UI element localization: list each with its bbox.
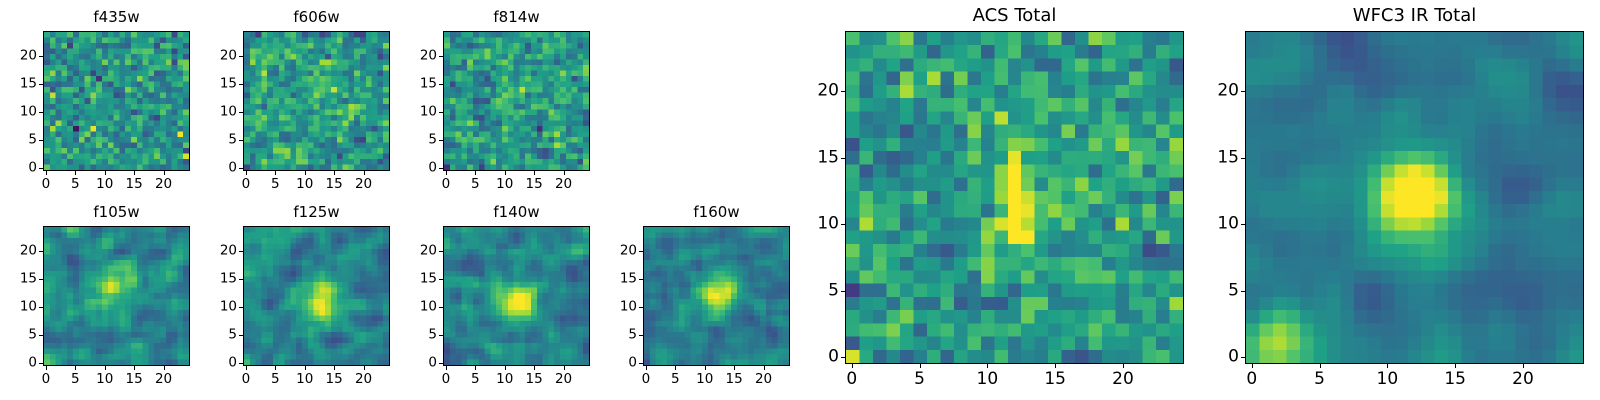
y-tick-label: 0 — [799, 349, 839, 366]
y-tick-label: 20 — [1199, 82, 1239, 99]
x-tick-label: 10 — [1377, 371, 1399, 388]
x-tick-label: 20 — [355, 373, 372, 387]
y-tick-mark — [239, 307, 243, 308]
x-tick-mark — [134, 171, 135, 175]
x-tick-mark — [46, 171, 47, 175]
y-tick-label: 5 — [5, 133, 37, 147]
y-tick-mark — [841, 158, 845, 159]
x-tick-mark — [364, 171, 365, 175]
panel-title-f105w: f105w — [43, 205, 190, 220]
x-tick-label: 15 — [326, 178, 343, 192]
x-tick-label: 20 — [1112, 371, 1134, 388]
x-tick-mark — [305, 171, 306, 175]
panel-f814w: f814w0510152005101520 — [443, 31, 590, 171]
x-tick-mark — [1055, 364, 1056, 368]
y-tick-mark — [439, 335, 443, 336]
y-tick-mark — [239, 251, 243, 252]
panel-title-f814w: f814w — [443, 10, 590, 25]
y-tick-mark — [439, 168, 443, 169]
panel-f160w: f160w0510152005101520 — [643, 226, 790, 366]
y-tick-mark — [1241, 291, 1245, 292]
x-tick-mark — [1387, 364, 1388, 368]
panel-title-f160w: f160w — [643, 205, 790, 220]
x-tick-mark — [987, 364, 988, 368]
y-tick-label: 5 — [205, 133, 237, 147]
x-tick-label: 15 — [1044, 371, 1066, 388]
y-tick-mark — [1241, 224, 1245, 225]
x-tick-mark — [1320, 364, 1321, 368]
y-tick-label: 10 — [205, 105, 237, 119]
x-tick-label: 5 — [471, 178, 480, 192]
y-tick-label: 5 — [1199, 282, 1239, 299]
x-tick-mark — [46, 366, 47, 370]
panel-wfc3-ir-total: WFC3 IR Total0510152005101520 — [1245, 31, 1584, 364]
x-tick-label: 5 — [1314, 371, 1325, 388]
y-tick-label: 20 — [605, 244, 637, 258]
x-tick-label: 0 — [442, 178, 451, 192]
heatmap-canvas-f160w — [644, 227, 789, 365]
x-tick-mark — [646, 366, 647, 370]
x-tick-label: 10 — [977, 371, 999, 388]
x-tick-label: 5 — [471, 373, 480, 387]
heatmap-canvas-f814w — [444, 32, 589, 170]
y-tick-mark — [239, 56, 243, 57]
x-tick-mark — [75, 366, 76, 370]
x-tick-label: 15 — [1444, 371, 1466, 388]
x-tick-mark — [134, 366, 135, 370]
heatmap-image-f105w — [43, 226, 190, 366]
x-tick-mark — [75, 171, 76, 175]
x-tick-label: 15 — [126, 373, 143, 387]
x-tick-label: 0 — [1246, 371, 1257, 388]
x-tick-label: 20 — [555, 178, 572, 192]
y-tick-label: 5 — [405, 328, 437, 342]
x-tick-mark — [920, 364, 921, 368]
x-tick-label: 10 — [696, 373, 713, 387]
x-tick-mark — [534, 171, 535, 175]
x-tick-label: 10 — [296, 178, 313, 192]
y-tick-mark — [239, 84, 243, 85]
y-tick-mark — [439, 307, 443, 308]
x-tick-mark — [164, 366, 165, 370]
heatmap-canvas-f606w — [244, 32, 389, 170]
y-tick-label: 15 — [5, 77, 37, 91]
x-tick-label: 5 — [914, 371, 925, 388]
heatmap-image-f140w — [443, 226, 590, 366]
heatmap-image-f435w — [43, 31, 190, 171]
y-tick-label: 10 — [405, 300, 437, 314]
x-tick-mark — [334, 171, 335, 175]
x-tick-mark — [246, 366, 247, 370]
y-tick-label: 5 — [799, 282, 839, 299]
heatmap-image-acs-total — [845, 31, 1184, 364]
x-tick-label: 20 — [1512, 371, 1534, 388]
y-tick-mark — [439, 279, 443, 280]
y-tick-mark — [1241, 158, 1245, 159]
y-tick-mark — [639, 251, 643, 252]
y-tick-label: 5 — [605, 328, 637, 342]
y-tick-label: 5 — [405, 133, 437, 147]
x-tick-mark — [446, 366, 447, 370]
y-tick-label: 0 — [205, 161, 237, 175]
x-tick-label: 20 — [755, 373, 772, 387]
x-tick-label: 0 — [642, 373, 651, 387]
x-tick-mark — [275, 171, 276, 175]
x-tick-label: 10 — [296, 373, 313, 387]
y-tick-label: 15 — [405, 272, 437, 286]
y-tick-mark — [639, 307, 643, 308]
heatmap-image-wfc3-ir-total — [1245, 31, 1584, 364]
x-tick-mark — [305, 366, 306, 370]
y-tick-mark — [39, 363, 43, 364]
x-tick-mark — [246, 171, 247, 175]
x-tick-mark — [164, 171, 165, 175]
heatmap-canvas-f125w — [244, 227, 389, 365]
x-tick-label: 0 — [42, 373, 51, 387]
x-tick-label: 15 — [326, 373, 343, 387]
panel-title-f140w: f140w — [443, 205, 590, 220]
y-tick-mark — [1241, 357, 1245, 358]
heatmap-image-f606w — [243, 31, 390, 171]
y-tick-mark — [639, 363, 643, 364]
y-tick-mark — [639, 279, 643, 280]
x-tick-label: 20 — [555, 373, 572, 387]
figure-canvas: f435w0510152005101520f606w05101520051015… — [0, 0, 1600, 400]
y-tick-mark — [239, 168, 243, 169]
y-tick-mark — [239, 279, 243, 280]
panel-title-f435w: f435w — [43, 10, 190, 25]
y-tick-label: 20 — [5, 49, 37, 63]
y-tick-mark — [841, 291, 845, 292]
y-tick-label: 15 — [5, 272, 37, 286]
y-tick-label: 15 — [205, 77, 237, 91]
y-tick-mark — [239, 363, 243, 364]
x-tick-label: 10 — [96, 178, 113, 192]
x-tick-label: 20 — [355, 178, 372, 192]
y-tick-mark — [39, 140, 43, 141]
y-tick-mark — [239, 140, 243, 141]
x-tick-mark — [105, 171, 106, 175]
y-tick-mark — [841, 91, 845, 92]
y-tick-label: 10 — [5, 105, 37, 119]
x-tick-label: 5 — [71, 373, 80, 387]
y-tick-label: 20 — [405, 244, 437, 258]
x-tick-label: 0 — [42, 178, 51, 192]
y-tick-label: 10 — [405, 105, 437, 119]
x-tick-mark — [334, 366, 335, 370]
panel-f435w: f435w0510152005101520 — [43, 31, 190, 171]
y-tick-mark — [439, 112, 443, 113]
y-tick-label: 15 — [205, 272, 237, 286]
y-tick-mark — [239, 335, 243, 336]
x-tick-label: 5 — [671, 373, 680, 387]
x-tick-mark — [534, 366, 535, 370]
x-tick-label: 5 — [71, 178, 80, 192]
x-tick-mark — [105, 366, 106, 370]
x-tick-mark — [1123, 364, 1124, 368]
x-tick-label: 0 — [242, 178, 251, 192]
y-tick-mark — [639, 335, 643, 336]
x-tick-label: 15 — [526, 373, 543, 387]
x-tick-mark — [1455, 364, 1456, 368]
y-tick-label: 0 — [5, 161, 37, 175]
x-tick-mark — [675, 366, 676, 370]
x-tick-label: 20 — [155, 178, 172, 192]
panel-f125w: f125w0510152005101520 — [243, 226, 390, 366]
panel-acs-total: ACS Total0510152005101520 — [845, 31, 1184, 364]
x-tick-mark — [1523, 364, 1524, 368]
y-tick-label: 5 — [205, 328, 237, 342]
y-tick-label: 20 — [405, 49, 437, 63]
x-tick-mark — [705, 366, 706, 370]
y-tick-mark — [39, 112, 43, 113]
y-tick-mark — [1241, 91, 1245, 92]
x-tick-mark — [1252, 364, 1253, 368]
x-tick-mark — [505, 171, 506, 175]
y-tick-mark — [39, 279, 43, 280]
x-tick-label: 15 — [526, 178, 543, 192]
x-tick-mark — [505, 366, 506, 370]
x-tick-mark — [734, 366, 735, 370]
x-tick-mark — [364, 366, 365, 370]
y-tick-label: 10 — [605, 300, 637, 314]
y-tick-label: 10 — [1199, 216, 1239, 233]
heatmap-image-f125w — [243, 226, 390, 366]
panel-title-acs-total: ACS Total — [845, 7, 1184, 25]
panel-title-wfc3-ir-total: WFC3 IR Total — [1245, 7, 1584, 25]
y-tick-mark — [439, 363, 443, 364]
x-tick-label: 15 — [126, 178, 143, 192]
y-tick-label: 0 — [5, 356, 37, 370]
heatmap-canvas-f105w — [44, 227, 189, 365]
y-tick-label: 20 — [799, 82, 839, 99]
y-tick-label: 20 — [205, 49, 237, 63]
x-tick-mark — [275, 366, 276, 370]
x-tick-mark — [475, 171, 476, 175]
x-tick-mark — [475, 366, 476, 370]
panel-title-f125w: f125w — [243, 205, 390, 220]
y-tick-mark — [841, 357, 845, 358]
x-tick-mark — [446, 171, 447, 175]
y-tick-label: 0 — [605, 356, 637, 370]
panel-f140w: f140w0510152005101520 — [443, 226, 590, 366]
x-tick-label: 0 — [242, 373, 251, 387]
y-tick-label: 0 — [405, 356, 437, 370]
y-tick-label: 20 — [205, 244, 237, 258]
y-tick-label: 10 — [799, 216, 839, 233]
y-tick-mark — [439, 251, 443, 252]
y-tick-label: 0 — [205, 356, 237, 370]
y-tick-label: 0 — [405, 161, 437, 175]
y-tick-label: 15 — [405, 77, 437, 91]
y-tick-mark — [39, 168, 43, 169]
y-tick-label: 10 — [205, 300, 237, 314]
y-tick-label: 20 — [5, 244, 37, 258]
x-tick-label: 10 — [496, 178, 513, 192]
heatmap-canvas-wfc3-ir-total — [1246, 32, 1583, 363]
heatmap-canvas-f140w — [444, 227, 589, 365]
x-tick-label: 15 — [726, 373, 743, 387]
x-tick-mark — [852, 364, 853, 368]
x-tick-label: 5 — [271, 373, 280, 387]
y-tick-label: 10 — [5, 300, 37, 314]
y-tick-mark — [439, 140, 443, 141]
panel-f105w: f105w0510152005101520 — [43, 226, 190, 366]
heatmap-canvas-f435w — [44, 32, 189, 170]
y-tick-label: 15 — [1199, 149, 1239, 166]
x-tick-mark — [764, 366, 765, 370]
y-tick-mark — [439, 56, 443, 57]
x-tick-label: 0 — [846, 371, 857, 388]
heatmap-image-f814w — [443, 31, 590, 171]
y-tick-mark — [439, 84, 443, 85]
heatmap-canvas-acs-total — [846, 32, 1183, 363]
x-tick-label: 0 — [442, 373, 451, 387]
y-tick-mark — [39, 56, 43, 57]
x-tick-label: 20 — [155, 373, 172, 387]
y-tick-label: 15 — [605, 272, 637, 286]
y-tick-label: 5 — [5, 328, 37, 342]
y-tick-mark — [239, 112, 243, 113]
y-tick-label: 0 — [1199, 349, 1239, 366]
x-tick-label: 10 — [96, 373, 113, 387]
x-tick-mark — [564, 171, 565, 175]
panel-title-f606w: f606w — [243, 10, 390, 25]
y-tick-mark — [39, 335, 43, 336]
x-tick-label: 5 — [271, 178, 280, 192]
y-tick-mark — [39, 84, 43, 85]
x-tick-mark — [564, 366, 565, 370]
y-tick-mark — [39, 307, 43, 308]
heatmap-image-f160w — [643, 226, 790, 366]
y-tick-label: 15 — [799, 149, 839, 166]
y-tick-mark — [39, 251, 43, 252]
x-tick-label: 10 — [496, 373, 513, 387]
panel-f606w: f606w0510152005101520 — [243, 31, 390, 171]
y-tick-mark — [841, 224, 845, 225]
